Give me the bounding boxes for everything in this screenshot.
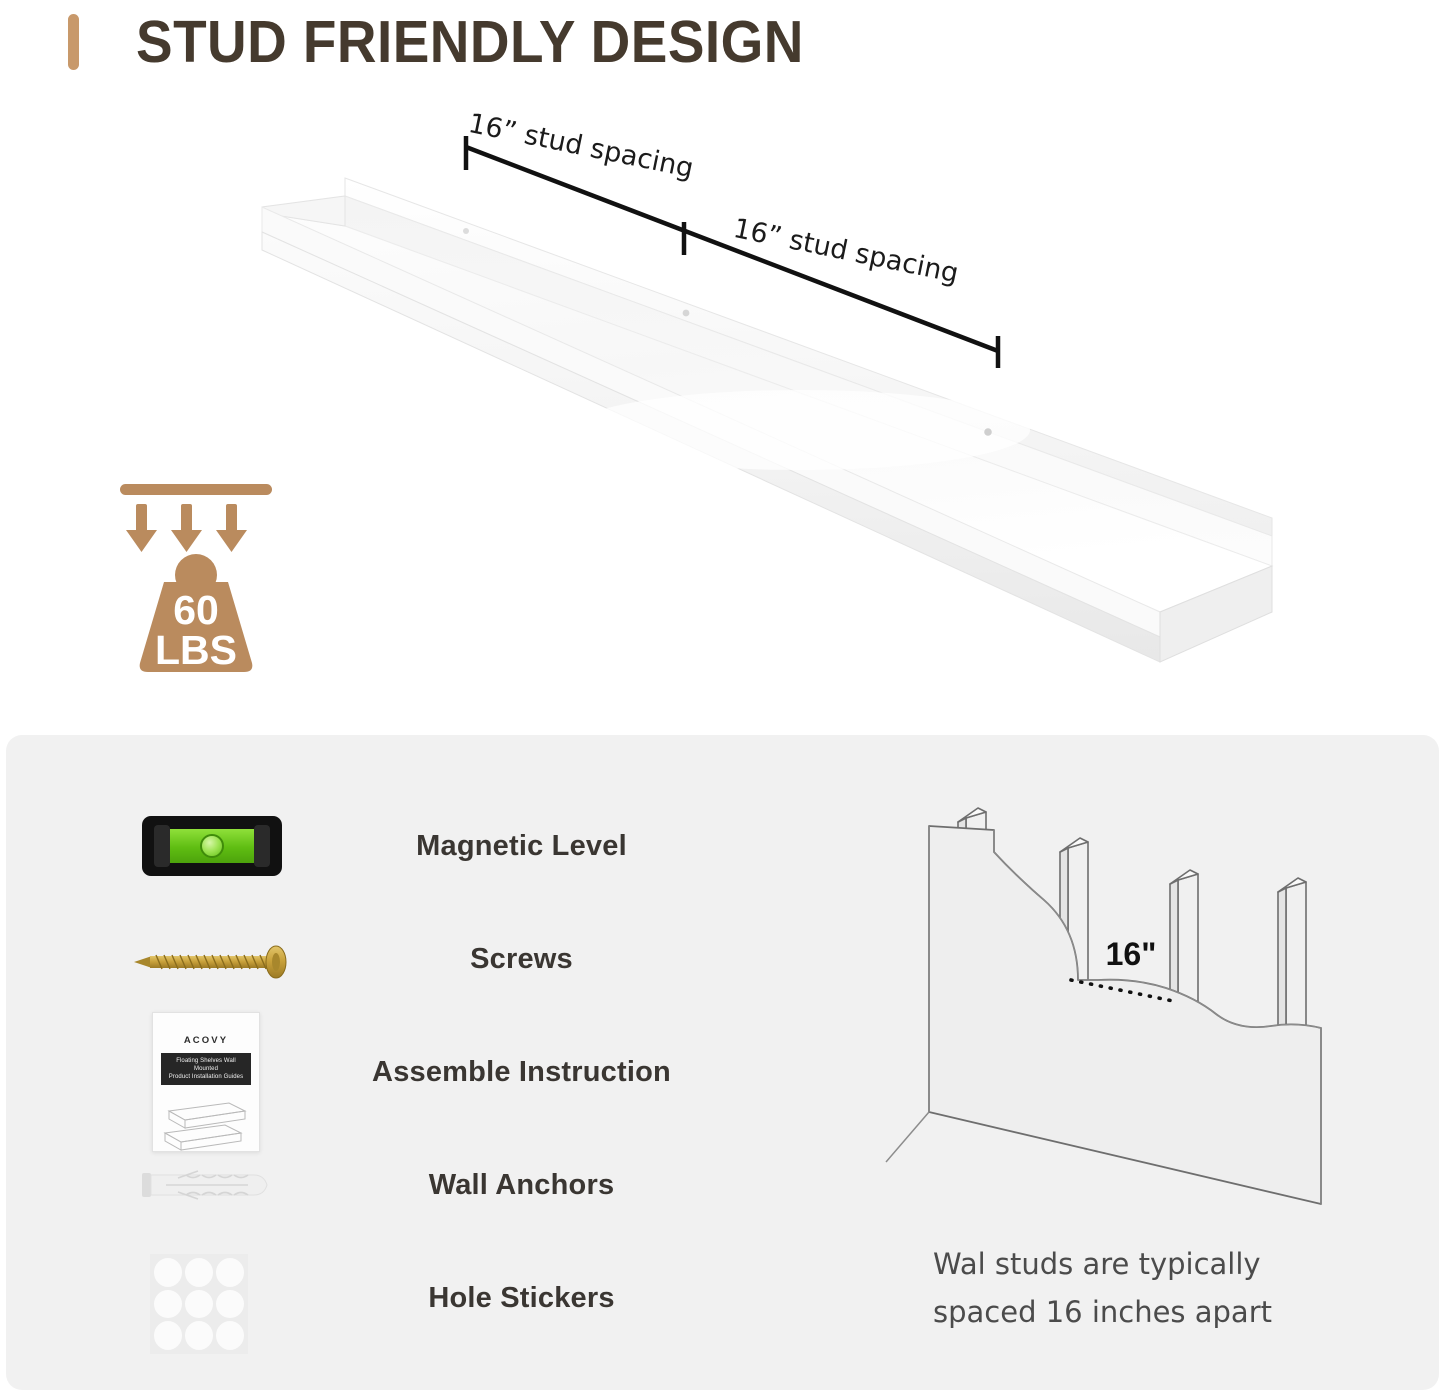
wall-stud-diagram: 16": [866, 790, 1346, 1220]
booklet-line-2: Product Installation Guides: [164, 1073, 248, 1081]
magnetic-level-icon: [124, 794, 299, 899]
caption-line-2: spaced 16 inches apart: [933, 1288, 1272, 1336]
booklet-line-1: Floating Shelves Wall Mounted: [164, 1057, 248, 1073]
screw-icon: [124, 907, 299, 1012]
hole-stickers-icon: [124, 1246, 299, 1351]
list-item-label: Assemble Instruction: [299, 1056, 744, 1089]
list-item-label: Hole Stickers: [299, 1282, 744, 1315]
instruction-booklet-icon: ACOVY Floating Shelves Wall Mounted Prod…: [124, 1020, 299, 1125]
list-item-label: Wall Anchors: [299, 1169, 744, 1202]
measure-label: 16": [1106, 936, 1157, 972]
load-arrow-icon: [126, 504, 157, 552]
ceiling-bar: [120, 484, 272, 495]
weight-capacity-badge: 60 LBS: [112, 478, 292, 678]
weight-unit: LBS: [155, 627, 237, 673]
dimension-line: [466, 147, 998, 351]
list-item-label: Screws: [299, 943, 744, 976]
page-title: STUD FRIENDLY DESIGN: [68, 8, 854, 76]
accessories-list: Magnetic Level: [124, 790, 744, 1355]
list-item: Wall Anchors: [124, 1129, 744, 1242]
list-item: Magnetic Level: [124, 790, 744, 903]
dimension-ticks: [466, 136, 998, 368]
title-accent-bar: [68, 14, 79, 70]
drywall-panel: [929, 826, 1321, 1204]
booklet-title-band: Floating Shelves Wall Mounted Product In…: [161, 1053, 251, 1085]
list-item: Hole Stickers: [124, 1242, 744, 1355]
load-arrow-icon: [171, 504, 202, 552]
wall-anchor-icon: [124, 1133, 299, 1238]
hero-section: STUD FRIENDLY DESIGN: [0, 0, 1445, 735]
list-item: Screws: [124, 903, 744, 1016]
booklet-brand: ACOVY: [153, 1035, 259, 1046]
dimension-label-left: 16” stud spacing: [466, 108, 696, 184]
stud-diagram-caption: Wal studs are typically spaced 16 inches…: [933, 1240, 1272, 1336]
list-item-label: Magnetic Level: [299, 830, 744, 863]
list-item: ACOVY Floating Shelves Wall Mounted Prod…: [124, 1016, 744, 1129]
caption-line-1: Wal studs are typically: [933, 1240, 1272, 1288]
title-label: STUD FRIENDLY DESIGN: [136, 8, 804, 76]
load-arrow-icon: [216, 504, 247, 552]
wall-stud: [1278, 878, 1306, 1040]
dimension-label-right: 16” stud spacing: [731, 213, 961, 289]
